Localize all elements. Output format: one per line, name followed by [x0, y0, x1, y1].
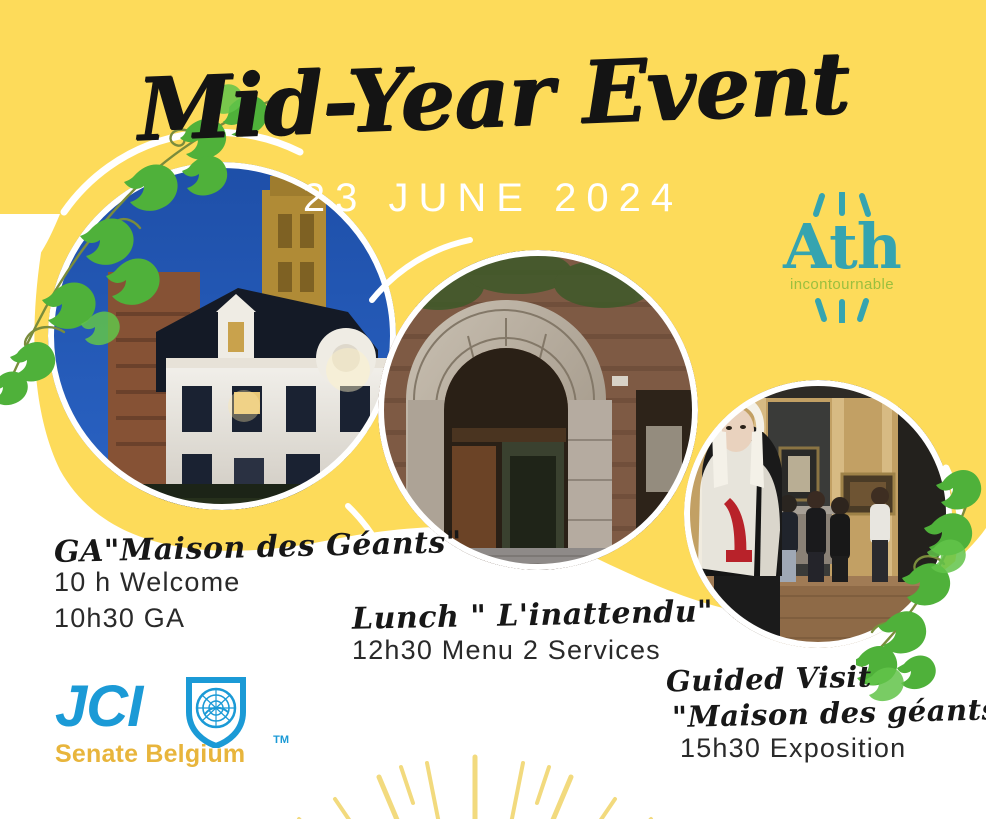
jci-logo: JCI TM Senate Belgium — [55, 678, 285, 782]
visit-script-line-2: "Maison des géants" — [672, 692, 986, 734]
visit-script-line-1: Guided Visit — [666, 659, 872, 698]
schedule-block-visit: Guided Visit "Maison des géants" 15h30 E… — [666, 662, 986, 766]
event-date: 23 JUNE 2024 — [0, 176, 986, 221]
event-poster: Mid-Year Event 23 JUNE 2024 Ath incontou… — [0, 0, 986, 819]
jci-subtitle: Senate Belgium — [55, 740, 285, 769]
jci-trademark: TM — [273, 734, 289, 746]
ga-script-line: GA"Maison des Géants" — [54, 525, 463, 570]
lunch-script-line: Lunch " L'inattendu" — [352, 594, 714, 637]
archway-photo — [378, 250, 698, 570]
visit-line-1: 15h30 Exposition — [680, 730, 986, 766]
photo-circle-archway — [378, 250, 698, 570]
jci-shield-icon — [185, 676, 247, 748]
schedule-block-lunch: Lunch " L'inattendu" 12h30 Menu 2 Servic… — [352, 598, 713, 669]
ath-wordmark: Ath — [752, 218, 932, 275]
jci-wordmark: JCI — [55, 678, 285, 736]
lunch-line-1: 12h30 Menu 2 Services — [352, 633, 713, 669]
ga-line-1: 10 h Welcome — [54, 565, 462, 601]
ath-tagline: incontournable — [752, 276, 932, 293]
ath-rays-bottom-icon — [782, 297, 902, 323]
museum-photo — [684, 380, 952, 648]
photo-circle-museum — [684, 380, 952, 648]
